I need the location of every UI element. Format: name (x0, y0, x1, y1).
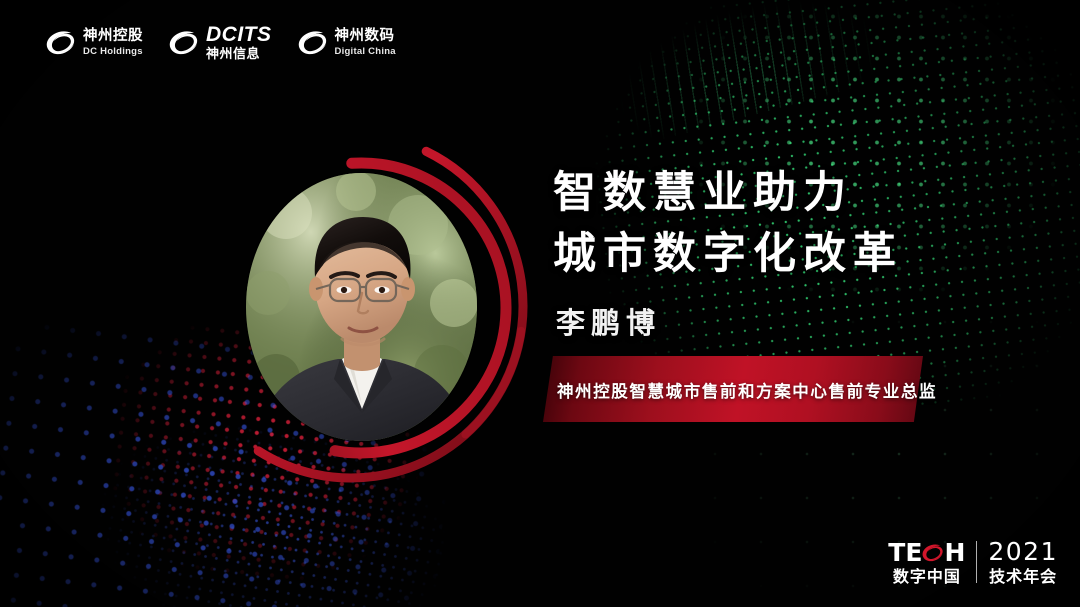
portrait-image (246, 173, 477, 441)
logo-en-text: DC Holdings (83, 47, 143, 57)
avatar (246, 173, 477, 441)
event-logo: T E H 数字中国 2021 技术年会 (888, 539, 1058, 585)
event-logo-right: 2021 技术年会 (988, 539, 1058, 585)
title-line-2: 城市数字化改革 (553, 224, 903, 285)
logo-cn-text: 神州控股 (83, 29, 143, 44)
tech-letter-t: T (888, 540, 905, 565)
event-subtitle: 数字中国 (893, 569, 961, 585)
speaker-role: 神州控股智慧城市售前和方案中心售前专业总监 (557, 378, 937, 402)
tech-wordmark: T E H (888, 540, 965, 565)
logo-dc-holdings[interactable]: 神州控股 DC Holdings (46, 29, 143, 56)
speaker-name: 李鹏博 (556, 300, 661, 342)
logo-en-text: DCITS (206, 24, 272, 45)
event-name: 技术年会 (989, 569, 1057, 585)
title-line-1: 智数慧业助力 (553, 163, 903, 224)
event-logo-divider (976, 541, 977, 583)
background-decoration (0, 0, 1080, 607)
red-swirl-icon (922, 540, 944, 565)
logo-cn-text: 神州数码 (335, 29, 396, 44)
swirl-icon (169, 30, 199, 56)
logo-cn-text: 神州信息 (206, 48, 272, 61)
logo-dcits[interactable]: DCITS 神州信息 (169, 24, 272, 61)
green-streak-lines (545, 0, 905, 160)
vignette-overlay (0, 0, 1080, 607)
logo-en-text: Digital China (335, 47, 396, 57)
swirl-icon (46, 30, 76, 56)
logo-digital-china[interactable]: 神州数码 Digital China (298, 29, 396, 56)
swirl-icon (298, 30, 328, 56)
brand-logo-bar: 神州控股 DC Holdings DCITS 神州信息 (46, 24, 396, 61)
tech-letter-e: E (905, 540, 922, 565)
speaker-portrait-group (168, 118, 534, 488)
presentation-slide: 神州控股 DC Holdings DCITS 神州信息 (0, 0, 1080, 607)
tech-letter-h: H (944, 540, 965, 565)
page-title: 智数慧业助力 城市数字化改革 (553, 163, 903, 285)
event-logo-left: T E H 数字中国 (888, 540, 965, 585)
event-year: 2021 (988, 539, 1058, 564)
